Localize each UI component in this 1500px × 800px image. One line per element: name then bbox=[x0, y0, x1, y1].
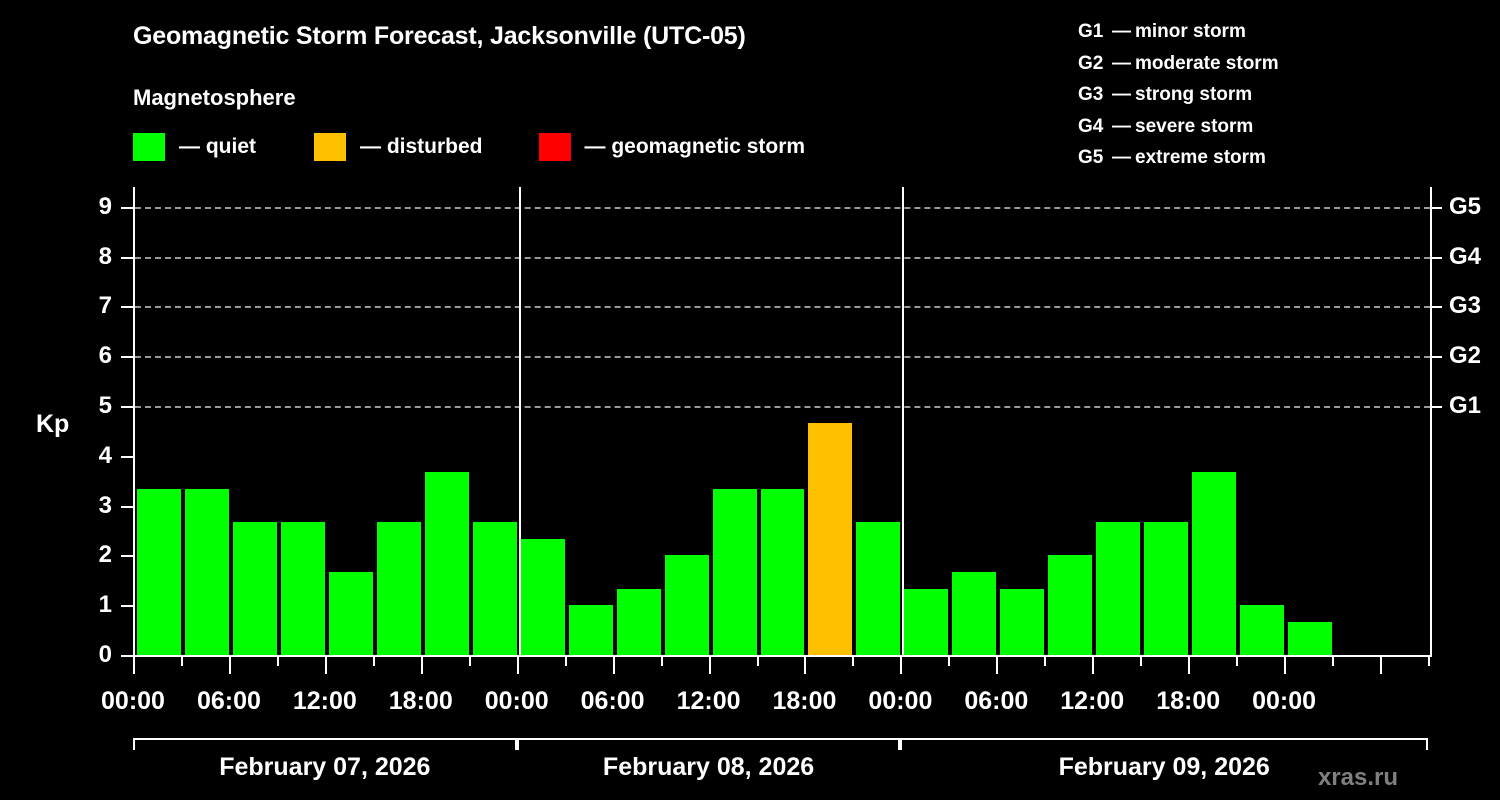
x-tick-major-18 bbox=[996, 657, 998, 674]
page-title: Geomagnetic Storm Forecast, Jacksonville… bbox=[133, 22, 746, 51]
bar bbox=[761, 489, 805, 655]
g-legend-row-g4: G4—severe storm bbox=[1078, 111, 1279, 143]
x-tick-minor-23 bbox=[1236, 657, 1238, 666]
bar bbox=[952, 572, 996, 655]
bar bbox=[185, 489, 229, 655]
x-tick-minor-19 bbox=[1044, 657, 1046, 666]
bar bbox=[1144, 522, 1188, 655]
x-tick-major-4 bbox=[325, 657, 327, 674]
x-tick-major-6 bbox=[421, 657, 423, 674]
y-tick-label-8: 8 bbox=[76, 245, 112, 269]
legend-entry-storm: — geomagnetic storm bbox=[539, 133, 806, 161]
y-tick-mark-8 bbox=[121, 257, 133, 259]
g-legend-code: G2 bbox=[1078, 48, 1108, 80]
y-tick-mark-0 bbox=[121, 655, 133, 657]
x-tick-major-0 bbox=[133, 657, 135, 674]
x-tick-minor-21 bbox=[1140, 657, 1142, 666]
x-tick-major-16 bbox=[900, 657, 902, 674]
g-axis-label-g2: G2 bbox=[1449, 344, 1481, 368]
g-legend-description: severe storm bbox=[1135, 116, 1253, 137]
bar bbox=[856, 522, 900, 655]
bar bbox=[1288, 622, 1332, 655]
date-label-0: February 07, 2026 bbox=[133, 755, 517, 780]
bar-series bbox=[135, 187, 1430, 655]
bar bbox=[137, 489, 181, 655]
legend-label-disturbed: — disturbed bbox=[360, 135, 483, 159]
g-legend-description: moderate storm bbox=[1135, 53, 1279, 74]
x-tick-minor-27 bbox=[1428, 657, 1430, 666]
bar bbox=[281, 522, 325, 655]
bar bbox=[713, 489, 757, 655]
y-tick-label-9: 9 bbox=[76, 195, 112, 219]
x-tick-major-14 bbox=[804, 657, 806, 674]
g-legend-description: extreme storm bbox=[1135, 147, 1266, 168]
g-legend-dash: — bbox=[1108, 48, 1135, 80]
x-tick-minor-11 bbox=[661, 657, 663, 666]
g-legend-dash: — bbox=[1108, 16, 1135, 48]
y-tick-mark-9 bbox=[121, 207, 133, 209]
day-bracket-0 bbox=[133, 738, 517, 750]
g-legend-description: strong storm bbox=[1135, 84, 1252, 105]
g-legend-row-g3: G3—strong storm bbox=[1078, 79, 1279, 111]
x-tick-minor-17 bbox=[948, 657, 950, 666]
g-legend-code: G1 bbox=[1078, 16, 1108, 48]
g-legend-description: minor storm bbox=[1135, 21, 1246, 42]
legend-entry-quiet: — quiet bbox=[133, 133, 256, 161]
legend-swatch-disturbed bbox=[314, 133, 346, 161]
x-tick-major-8 bbox=[517, 657, 519, 674]
g-legend-code: G5 bbox=[1078, 142, 1108, 174]
x-tick-major-22 bbox=[1188, 657, 1190, 674]
bar bbox=[425, 472, 469, 655]
legend-swatch-storm bbox=[539, 133, 571, 161]
g-axis-label-g5: G5 bbox=[1449, 195, 1481, 219]
x-tick-major-10 bbox=[613, 657, 615, 674]
x-tick-major-12 bbox=[709, 657, 711, 674]
y-tick-mark-7 bbox=[121, 306, 133, 308]
bar bbox=[329, 572, 373, 655]
bar bbox=[1000, 589, 1044, 655]
date-label-1: February 08, 2026 bbox=[517, 755, 901, 780]
x-tick-minor-1 bbox=[181, 657, 183, 666]
bar bbox=[808, 423, 852, 656]
bar bbox=[1192, 472, 1236, 655]
y-tick-mark-2 bbox=[121, 555, 133, 557]
y-tick-mark-5 bbox=[121, 406, 133, 408]
y-axis-title: Kp bbox=[36, 410, 69, 439]
x-tick-minor-15 bbox=[852, 657, 854, 666]
legend-swatch-quiet bbox=[133, 133, 165, 161]
g-axis-label-g3: G3 bbox=[1449, 294, 1481, 318]
day-bracket-1 bbox=[517, 738, 901, 750]
bar bbox=[377, 522, 421, 655]
color-legend: — quiet— disturbed— geomagnetic storm bbox=[133, 133, 805, 161]
bar bbox=[1240, 605, 1284, 655]
x-tick-minor-13 bbox=[757, 657, 759, 666]
bar bbox=[1048, 555, 1092, 655]
x-tick-major-26 bbox=[1380, 657, 1382, 674]
bar bbox=[1096, 522, 1140, 655]
y-tick-label-0: 0 bbox=[76, 643, 112, 667]
x-tick-major-20 bbox=[1092, 657, 1094, 674]
g-axis-label-g4: G4 bbox=[1449, 245, 1481, 269]
legend-label-storm: — geomagnetic storm bbox=[585, 135, 806, 159]
g-legend-row-g2: G2—moderate storm bbox=[1078, 48, 1279, 80]
y-tick-label-4: 4 bbox=[76, 444, 112, 468]
bar bbox=[233, 522, 277, 655]
x-tick-minor-25 bbox=[1332, 657, 1334, 666]
y-tick-label-2: 2 bbox=[76, 543, 112, 567]
y-tick-label-1: 1 bbox=[76, 593, 112, 617]
legend-entry-disturbed: — disturbed bbox=[314, 133, 483, 161]
g-axis-label-g1: G1 bbox=[1449, 394, 1481, 418]
plot-area bbox=[133, 187, 1432, 657]
geomagnetic-forecast-chart: Geomagnetic Storm Forecast, Jacksonville… bbox=[0, 0, 1500, 800]
bar bbox=[521, 539, 565, 655]
bar bbox=[569, 605, 613, 655]
g-legend-row-g1: G1—minor storm bbox=[1078, 16, 1279, 48]
y-tick-mark-3 bbox=[121, 506, 133, 508]
y-tick-label-6: 6 bbox=[76, 344, 112, 368]
x-tick-minor-5 bbox=[373, 657, 375, 666]
watermark: xras.ru bbox=[1318, 764, 1398, 792]
y-tick-label-7: 7 bbox=[76, 294, 112, 318]
g-legend-dash: — bbox=[1108, 79, 1135, 111]
g-legend-code: G4 bbox=[1078, 111, 1108, 143]
magnetosphere-section-label: Magnetosphere bbox=[133, 85, 296, 111]
y-tick-label-3: 3 bbox=[76, 494, 112, 518]
bar bbox=[473, 522, 517, 655]
x-tick-minor-9 bbox=[565, 657, 567, 666]
legend-label-quiet: — quiet bbox=[179, 135, 256, 159]
day-bracket-2 bbox=[900, 738, 1428, 750]
y-tick-mark-6 bbox=[121, 356, 133, 358]
x-tick-minor-3 bbox=[277, 657, 279, 666]
x-tick-major-24 bbox=[1284, 657, 1286, 674]
bar bbox=[665, 555, 709, 655]
bar bbox=[904, 589, 948, 655]
y-tick-mark-1 bbox=[121, 605, 133, 607]
g-legend-dash: — bbox=[1108, 111, 1135, 143]
x-tick-major-2 bbox=[229, 657, 231, 674]
y-tick-label-5: 5 bbox=[76, 394, 112, 418]
y-tick-mark-4 bbox=[121, 456, 133, 458]
g-legend-code: G3 bbox=[1078, 79, 1108, 111]
x-tick-minor-7 bbox=[469, 657, 471, 666]
g-legend-row-g5: G5—extreme storm bbox=[1078, 142, 1279, 174]
bar bbox=[617, 589, 661, 655]
x-tick-label-12: 00:00 bbox=[1224, 689, 1344, 714]
g-legend-dash: — bbox=[1108, 142, 1135, 174]
g-scale-legend: G1—minor stormG2—moderate stormG3—strong… bbox=[1078, 16, 1279, 174]
